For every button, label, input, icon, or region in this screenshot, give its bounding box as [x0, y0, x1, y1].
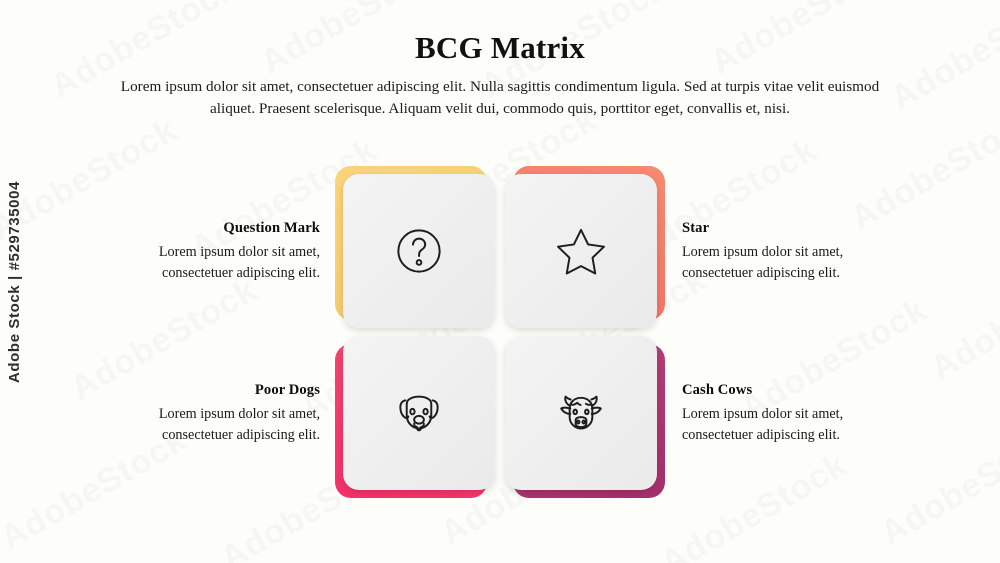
dog-head-icon	[389, 383, 449, 443]
bcg-matrix	[335, 166, 665, 498]
quadrant-poor-dogs[interactable]	[335, 336, 495, 498]
label-cash-cows: Cash Cows Lorem ipsum dolor sit amet, co…	[682, 382, 917, 445]
quadrant-card-poor-dogs[interactable]	[343, 336, 495, 490]
stock-credit-label: Adobe Stock | #529735004	[6, 180, 23, 382]
label-title-star: Star	[682, 220, 917, 237]
watermark-text: AdobeStock	[654, 446, 854, 563]
watermark-text: AdobeStock	[844, 101, 1000, 239]
label-title-question-mark: Question Mark	[85, 220, 320, 237]
label-body-question-mark: Lorem ipsum dolor sit amet, consectetuer…	[85, 242, 320, 283]
page-subtitle: Lorem ipsum dolor sit amet, consectetuer…	[105, 76, 895, 119]
label-star: Star Lorem ipsum dolor sit amet, consect…	[682, 220, 917, 283]
cow-head-icon	[551, 383, 611, 443]
label-poor-dogs: Poor Dogs Lorem ipsum dolor sit amet, co…	[85, 382, 320, 445]
question-mark-circle-icon	[389, 221, 449, 281]
quadrant-star[interactable]	[505, 166, 665, 328]
slide-canvas: AdobeStock AdobeStock AdobeStock AdobeSt…	[0, 0, 1000, 563]
quadrant-question-mark[interactable]	[335, 166, 495, 328]
star-icon	[551, 221, 611, 281]
quadrant-card-star[interactable]	[505, 174, 657, 328]
header: BCG Matrix Lorem ipsum dolor sit amet, c…	[0, 30, 1000, 119]
quadrant-card-question-mark[interactable]	[343, 174, 495, 328]
label-body-poor-dogs: Lorem ipsum dolor sit amet, consectetuer…	[85, 404, 320, 445]
label-title-poor-dogs: Poor Dogs	[85, 382, 320, 399]
page-title: BCG Matrix	[0, 30, 1000, 66]
label-title-cash-cows: Cash Cows	[682, 382, 917, 399]
label-body-cash-cows: Lorem ipsum dolor sit amet, consectetuer…	[682, 404, 917, 445]
quadrant-cash-cows[interactable]	[505, 336, 665, 498]
quadrant-card-cash-cows[interactable]	[505, 336, 657, 490]
watermark-text: AdobeStock	[924, 251, 1000, 389]
label-question-mark: Question Mark Lorem ipsum dolor sit amet…	[85, 220, 320, 283]
label-body-star: Lorem ipsum dolor sit amet, consectetuer…	[682, 242, 917, 283]
